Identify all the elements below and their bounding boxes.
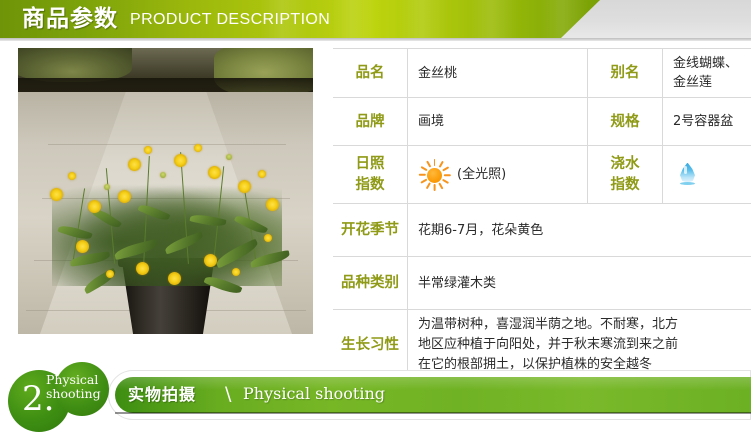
table-row-sunlight-water: 日照 指数 (全 (333, 146, 751, 204)
spec-value-watering (663, 146, 751, 204)
spec-label-watering-line2: 指数 (594, 175, 656, 196)
sun-ray (426, 182, 431, 189)
spec-label-sunlight-line2: 指数 (339, 175, 401, 196)
photo-flower (68, 172, 76, 180)
sun-ray (420, 178, 427, 183)
spec-label-sunlight-line1: 日照 (339, 154, 401, 175)
spec-label-sunlight: 日照 指数 (333, 146, 408, 204)
water-drop-icon (677, 161, 699, 189)
section-badge-label-line2: shooting (46, 387, 101, 401)
product-spec-table: 品名 金丝桃 别名 金线蝴蝶、金丝莲 品牌 画境 规格 2号容器盆 日照 指数 (333, 48, 751, 381)
sun-ray (426, 160, 431, 167)
spec-label-bloom: 开花季节 (333, 204, 408, 257)
spec-habit-line1: 为温带树种，喜湿润半荫之地。不耐寒，北方 (418, 315, 741, 335)
photo-flower (174, 154, 187, 167)
photo-flower-bud (160, 172, 166, 178)
photo-background-bush-left (18, 48, 132, 82)
photo-flower-bud (226, 154, 232, 160)
photo-flower (238, 180, 251, 193)
section-banner-physical-shooting: 实物拍摄 \ Physical shooting 2. Physical sho… (0, 360, 751, 433)
photo-flower (204, 254, 217, 267)
photo-flower (128, 158, 141, 171)
sun-ray (442, 178, 449, 183)
sun-icon (418, 159, 450, 191)
spec-value-variety: 半常绿灌木类 (408, 257, 751, 310)
water-drop-base (680, 182, 695, 185)
banner-title-en: Physical shooting (243, 383, 385, 405)
spec-value-name: 金丝桃 (408, 49, 588, 98)
spec-label-watering-line1: 浇水 (594, 154, 656, 175)
spec-label-variety: 品种类别 (333, 257, 408, 310)
photo-scene (18, 48, 313, 334)
header-underline (0, 38, 751, 41)
page-title-en: PRODUCT DESCRIPTION (130, 11, 330, 29)
photo-flower (106, 270, 114, 278)
sun-ray (418, 174, 425, 176)
photo-flower-bud (104, 184, 110, 190)
photo-flower (168, 272, 181, 285)
spec-value-alias: 金线蝴蝶、金丝莲 (663, 49, 751, 98)
water-drop-body (680, 163, 695, 183)
sun-core (427, 168, 442, 183)
spec-habit-line2: 地区应种植于向阳处，并于秋末寒流到来之前 (418, 335, 741, 355)
water-drop-shine (684, 166, 687, 174)
photo-flower (208, 166, 221, 179)
spec-label-alias: 别名 (588, 49, 663, 98)
spec-sunlight-note: (全光照) (457, 165, 506, 184)
section-badge-label-line1: Physical (46, 373, 101, 387)
photo-path-line (48, 144, 286, 145)
section-badge-label: Physical shooting (46, 373, 101, 401)
table-row-variety-type: 品种类别 半常绿灌木类 (333, 257, 751, 310)
table-row-bloom-season: 开花季节 花期6-7月，花朵黄色 (333, 204, 751, 257)
sun-ray (434, 159, 436, 166)
spec-value-spec: 2号容器盆 (663, 98, 751, 146)
sun-ray (438, 160, 443, 167)
spec-label-spec: 规格 (588, 98, 663, 146)
table-row-name: 品名 金丝桃 别名 金线蝴蝶、金丝莲 (333, 49, 751, 98)
photo-flower (232, 268, 240, 276)
sun-ray (434, 184, 436, 191)
sun-ray (438, 182, 443, 189)
photo-flower (136, 262, 149, 275)
product-photo (18, 48, 313, 334)
sun-ray (420, 166, 427, 171)
spec-label-name: 品名 (333, 49, 408, 98)
photo-flower (88, 200, 101, 213)
photo-flower (258, 170, 266, 178)
sun-ray (442, 166, 449, 171)
banner-separator: \ (225, 382, 231, 406)
banner-title-cn: 实物拍摄 (128, 384, 196, 406)
photo-flower (76, 240, 89, 253)
spec-label-watering: 浇水 指数 (588, 146, 663, 204)
spec-value-brand: 画境 (408, 98, 588, 146)
photo-flower (194, 144, 202, 152)
spec-value-bloom: 花期6-7月，花朵黄色 (408, 204, 751, 257)
spec-value-sunlight: (全光照) (408, 146, 588, 204)
photo-flower (50, 188, 63, 201)
table-row-brand: 品牌 画境 规格 2号容器盆 (333, 98, 751, 146)
photo-flower (144, 146, 152, 154)
photo-flower (118, 190, 131, 203)
page-header: 商品参数 PRODUCT DESCRIPTION (0, 0, 751, 38)
page-title-cn: 商品参数 (22, 5, 118, 33)
photo-flower (264, 234, 272, 242)
banner-bar-bottom-edge (115, 412, 751, 414)
sun-ray (443, 174, 450, 176)
spec-label-brand: 品牌 (333, 98, 408, 146)
photo-flower (266, 198, 279, 211)
banner-bar (115, 377, 751, 413)
